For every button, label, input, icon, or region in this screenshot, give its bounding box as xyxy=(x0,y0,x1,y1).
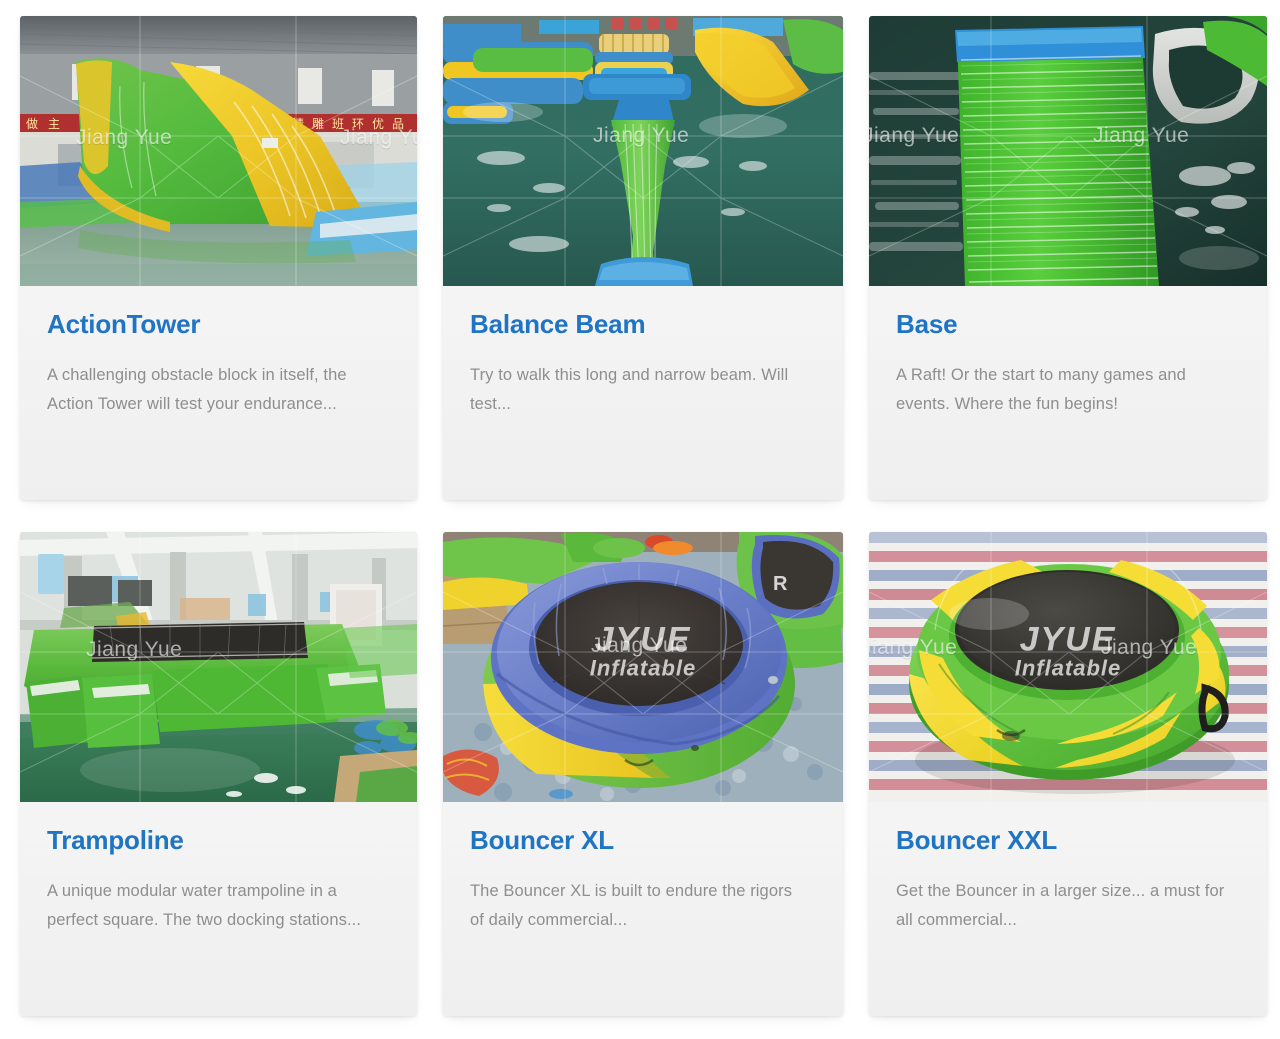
product-card[interactable]: Jiang Yue Jiang Yue Base A Raft! Or the … xyxy=(869,16,1267,500)
svg-text:班: 班 xyxy=(332,117,344,131)
svg-text:主: 主 xyxy=(48,117,60,131)
base-raft-image xyxy=(869,16,1267,286)
product-image[interactable]: 做主 精雕班环优品 xyxy=(20,16,417,286)
bouncer-xxl-image xyxy=(869,532,1267,802)
product-card[interactable]: Jiang Yue Trampoline A unique modular wa… xyxy=(20,532,417,1016)
product-title[interactable]: Balance Beam xyxy=(470,310,816,339)
product-description: A challenging obstacle block in itself, … xyxy=(47,361,387,419)
trampoline-image xyxy=(20,532,417,802)
product-description: The Bouncer XL is built to endure the ri… xyxy=(470,877,810,935)
product-card[interactable]: 做主 精雕班环优品 xyxy=(20,16,417,500)
product-title[interactable]: Bouncer XXL xyxy=(896,826,1240,855)
product-card-body: ActionTower A challenging obstacle block… xyxy=(20,286,417,500)
product-card-body: Trampoline A unique modular water trampo… xyxy=(20,802,417,1016)
product-image[interactable]: Jiang Yue xyxy=(443,16,843,286)
svg-text:品: 品 xyxy=(392,117,404,131)
svg-text:优: 优 xyxy=(372,117,384,131)
product-description: A Raft! Or the start to many games and e… xyxy=(896,361,1236,419)
svg-text:环: 环 xyxy=(352,117,364,131)
svg-text:做: 做 xyxy=(26,116,38,131)
product-grid: 做主 精雕班环优品 xyxy=(0,0,1280,1039)
product-image[interactable]: Jiang Yue Jiang Yue JYUE Inflatable xyxy=(869,532,1267,802)
product-card[interactable]: R xyxy=(443,532,843,1016)
balance-beam-image xyxy=(443,16,843,286)
product-card-body: Base A Raft! Or the start to many games … xyxy=(869,286,1267,500)
product-description: Try to walk this long and narrow beam. W… xyxy=(470,361,810,419)
product-card-body: Balance Beam Try to walk this long and n… xyxy=(443,286,843,500)
bouncer-xl-image: R xyxy=(443,532,843,802)
product-card[interactable]: Jiang Yue Jiang Yue JYUE Inflatable Boun… xyxy=(869,532,1267,1016)
product-title[interactable]: Trampoline xyxy=(47,826,390,855)
product-image[interactable]: R xyxy=(443,532,843,802)
product-description: Get the Bouncer in a larger size... a mu… xyxy=(896,877,1236,935)
product-title[interactable]: Base xyxy=(896,310,1240,339)
product-image[interactable]: Jiang Yue xyxy=(20,532,417,802)
product-description: A unique modular water trampoline in a p… xyxy=(47,877,387,935)
product-image[interactable]: Jiang Yue Jiang Yue xyxy=(869,16,1267,286)
svg-text:R: R xyxy=(773,573,788,595)
product-card[interactable]: Jiang Yue Balance Beam Try to walk this … xyxy=(443,16,843,500)
actiontower-image: 做主 精雕班环优品 xyxy=(20,16,417,286)
product-title[interactable]: ActionTower xyxy=(47,310,390,339)
svg-text:雕: 雕 xyxy=(312,116,324,131)
product-card-body: Bouncer XL The Bouncer XL is built to en… xyxy=(443,802,843,1016)
product-title[interactable]: Bouncer XL xyxy=(470,826,816,855)
product-card-body: Bouncer XXL Get the Bouncer in a larger … xyxy=(869,802,1267,1016)
